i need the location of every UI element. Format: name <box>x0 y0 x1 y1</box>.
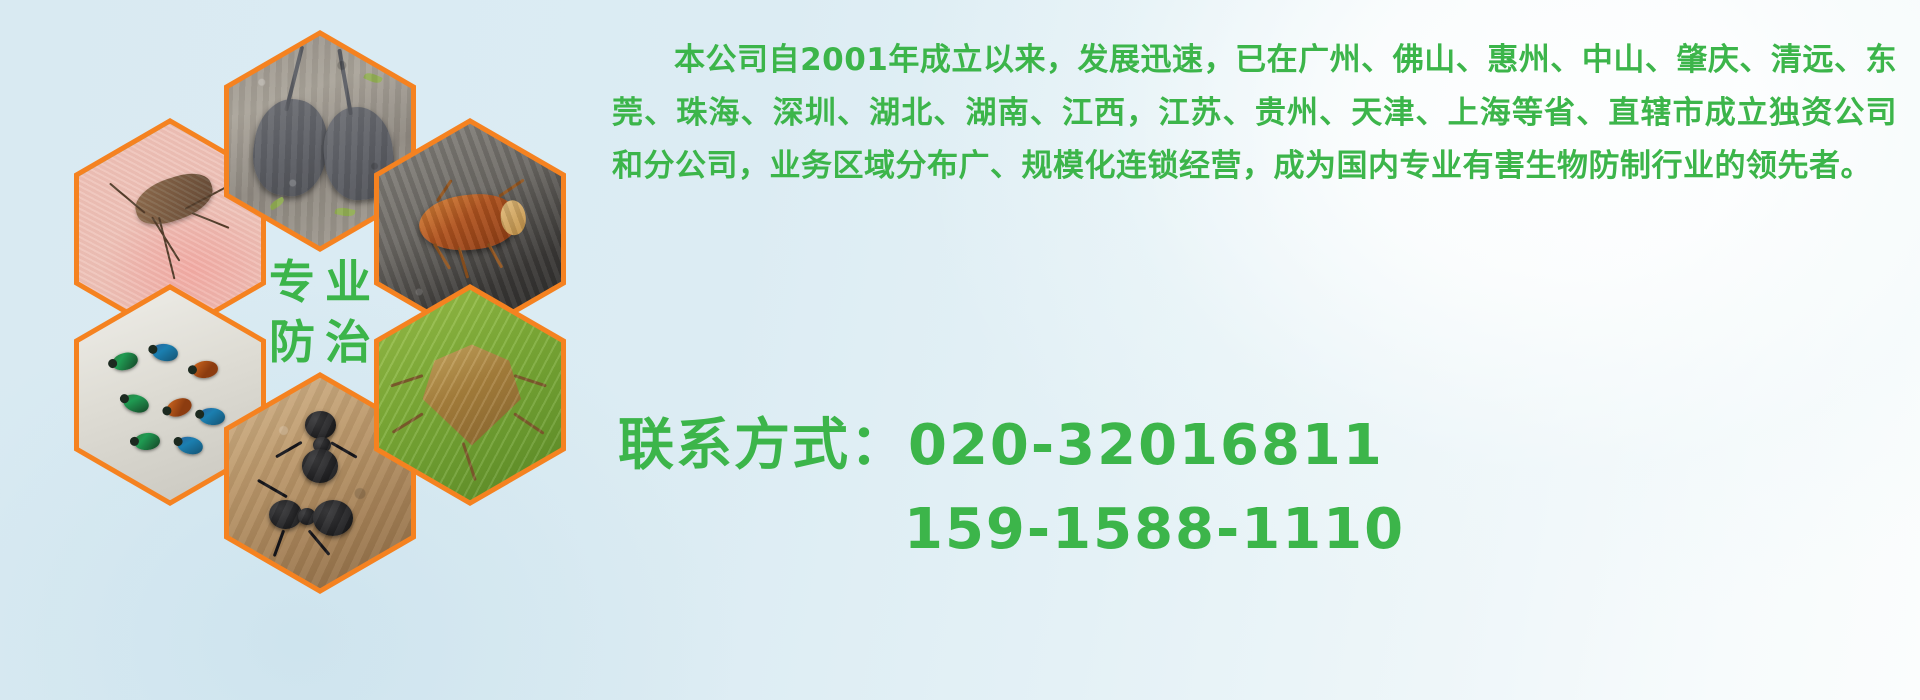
badge-line-1: 专业 <box>259 259 381 305</box>
contact-phone-mobile[interactable]: 159-1588-1110 <box>618 488 1918 572</box>
badge-professional-control: 专业 防治 <box>224 201 416 423</box>
company-intro-paragraph: 本公司自2001年成立以来，发展迅速，已在广州、佛山、惠州、中山、肇庆、清远、东… <box>612 34 1897 193</box>
promo-banner: 专业 防治 本公司自2001年成立以来，发展迅速，已在广州、佛山、惠州、中山、肇… <box>0 0 1920 700</box>
company-intro-block: 本公司自2001年成立以来，发展迅速，已在广州、佛山、惠州、中山、肇庆、清远、东… <box>612 34 1897 193</box>
contact-phone-landline[interactable]: 联系方式：020-32016811 <box>618 404 1918 488</box>
badge-line-2: 防治 <box>259 319 381 365</box>
hexagon-photo-cluster: 专业 防治 <box>74 8 594 588</box>
contact-block: 联系方式：020-32016811 159-1588-1110 <box>618 404 1918 572</box>
